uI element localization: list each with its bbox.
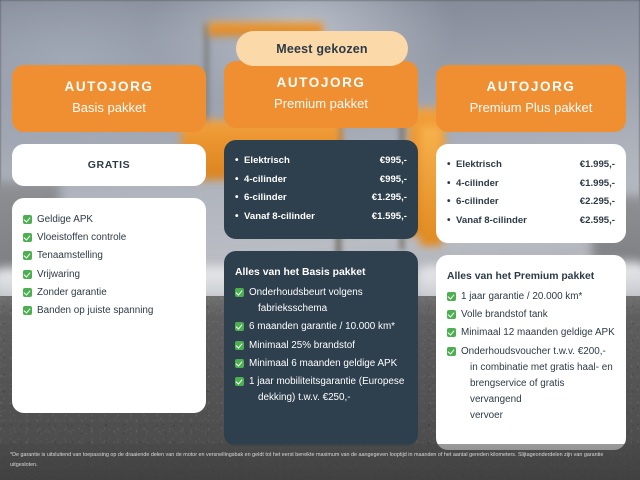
price-value: €1.595,- — [372, 208, 407, 227]
price-value: €2.595,- — [580, 212, 615, 231]
feature-label-cont: dekking) t.w.v. €250,- — [249, 390, 407, 406]
list-item: Minimaal 12 maanden geldige APK — [447, 325, 615, 341]
column-header-premium-plus: AUTOJORG Premium Plus pakket — [436, 65, 626, 132]
feature-label: Vrijwaring — [37, 269, 80, 280]
list-item: Banden op juiste spanning — [23, 303, 195, 319]
bullet-dot-icon: • — [447, 175, 456, 194]
column-header-premium: AUTOJORG Premium pakket — [224, 61, 418, 128]
check-icon — [23, 233, 32, 242]
features-list-premium-plus: 1 jaar garantie / 20.000 km* Volle brand… — [447, 289, 615, 425]
feature-label: Zonder garantie — [37, 287, 107, 298]
features-title: Alles van het Basis pakket — [235, 265, 407, 280]
price-row: • Vanaf 8-cilinder €1.595,- — [235, 208, 407, 227]
check-icon — [23, 306, 32, 315]
pricing-column-basis: AUTOJORG Basis pakket GRATIS Geldige APK… — [12, 0, 206, 413]
check-icon — [23, 215, 32, 224]
feature-label: Onderhoudsvoucher t.w.v. €200,- — [461, 346, 606, 357]
price-row: • 4-cilinder €1.995,- — [447, 175, 615, 194]
price-value: €1.995,- — [580, 156, 615, 175]
price-name: 4-cilinder — [456, 175, 580, 194]
brand-name: AUTOJORG — [20, 78, 198, 95]
bullet-dot-icon: • — [447, 212, 456, 231]
package-name: Premium Plus pakket — [444, 97, 618, 118]
brand-name: AUTOJORG — [444, 78, 618, 95]
check-icon — [23, 270, 32, 279]
feature-label: 6 maanden garantie / 10.000 km* — [249, 321, 395, 332]
list-item: Minimaal 25% brandstof — [235, 338, 407, 354]
most-chosen-badge-label: Meest gekozen — [276, 42, 368, 56]
price-list-premium: • Elektrisch €995,- • 4-cilinder €995,- … — [224, 140, 418, 239]
feature-label: Geldige APK — [37, 214, 93, 225]
check-icon — [23, 288, 32, 297]
price-banner-basis: GRATIS — [12, 144, 206, 186]
price-row: • Elektrisch €1.995,- — [447, 156, 615, 175]
list-item: 1 jaar garantie / 20.000 km* — [447, 289, 615, 305]
price-value: €995,- — [380, 152, 407, 171]
bullet-dot-icon: • — [235, 208, 244, 227]
check-icon — [447, 328, 456, 337]
price-row: • Vanaf 8-cilinder €2.595,- — [447, 212, 615, 231]
footer-disclaimer: *De garantie is uitsluitend van toepassi… — [0, 444, 640, 480]
feature-label: Tenaamstelling — [37, 250, 103, 261]
bullet-dot-icon: • — [447, 156, 456, 175]
feature-label-cont: fabrieksschema — [249, 301, 407, 317]
check-icon — [447, 310, 456, 319]
feature-label: Banden op juiste spanning — [37, 305, 153, 316]
check-icon — [235, 377, 244, 386]
price-banner-label: GRATIS — [88, 159, 131, 171]
bullet-dot-icon: • — [447, 193, 456, 212]
feature-label: 1 jaar garantie / 20.000 km* — [461, 291, 582, 302]
price-name: Elektrisch — [244, 152, 380, 171]
check-icon — [447, 292, 456, 301]
price-list-premium-plus: • Elektrisch €1.995,- • 4-cilinder €1.99… — [436, 144, 626, 243]
check-icon — [235, 359, 244, 368]
list-item: Volle brandstof tank — [447, 307, 615, 323]
feature-label: Minimaal 12 maanden geldige APK — [461, 327, 615, 338]
feature-label: Vloeistoffen controle — [37, 232, 126, 243]
feature-label-cont: brengservice of gratis vervangend — [461, 376, 615, 408]
most-chosen-badge: Meest gekozen — [236, 31, 408, 66]
price-name: Vanaf 8-cilinder — [456, 212, 580, 231]
feature-label-cont: vervoer — [461, 408, 615, 424]
check-icon — [235, 322, 244, 331]
features-panel-premium-plus: Alles van het Premium pakket 1 jaar gara… — [436, 255, 626, 450]
pricing-column-premium-plus: AUTOJORG Premium Plus pakket • Elektrisc… — [436, 0, 626, 450]
check-icon — [235, 288, 244, 297]
bullet-dot-icon: • — [235, 152, 244, 171]
brand-name: AUTOJORG — [232, 74, 410, 91]
list-item: Geldige APK — [23, 212, 195, 228]
pricing-table: Meest gekozen AUTOJORG Basis pakket GRAT… — [0, 0, 640, 480]
list-item: 6 maanden garantie / 10.000 km* — [235, 319, 407, 335]
features-panel-basis: Geldige APK Vloeistoffen controle Tenaam… — [12, 198, 206, 413]
features-list-basis: Geldige APK Vloeistoffen controle Tenaam… — [23, 212, 195, 319]
price-name: 4-cilinder — [244, 171, 380, 190]
price-value: €2.295,- — [580, 193, 615, 212]
price-row: • 4-cilinder €995,- — [235, 171, 407, 190]
price-name: 6-cilinder — [244, 189, 372, 208]
column-header-basis: AUTOJORG Basis pakket — [12, 65, 206, 132]
price-name: 6-cilinder — [456, 193, 580, 212]
price-name: Elektrisch — [456, 156, 580, 175]
list-item: Zonder garantie — [23, 285, 195, 301]
features-title: Alles van het Premium pakket — [447, 269, 615, 284]
price-value: €1.995,- — [580, 175, 615, 194]
list-item: Onderhoudsvoucher t.w.v. €200,- in combi… — [447, 344, 615, 425]
features-list-premium: Onderhoudsbeurt volgens fabrieksschema 6… — [235, 285, 407, 406]
price-value: €1.295,- — [372, 189, 407, 208]
list-item: Tenaamstelling — [23, 248, 195, 264]
bullet-dot-icon: • — [235, 171, 244, 190]
check-icon — [23, 251, 32, 260]
package-name: Basis pakket — [20, 97, 198, 118]
feature-label: 1 jaar mobiliteitsgarantie (Europese — [249, 376, 404, 387]
list-item: Onderhoudsbeurt volgens fabrieksschema — [235, 285, 407, 317]
feature-label: Onderhoudsbeurt volgens — [249, 287, 363, 298]
feature-label: Volle brandstof tank — [461, 309, 548, 320]
bullet-dot-icon: • — [235, 189, 244, 208]
check-icon — [447, 347, 456, 356]
list-item: Vloeistoffen controle — [23, 230, 195, 246]
list-item: 1 jaar mobiliteitsgarantie (Europese dek… — [235, 374, 407, 406]
list-item: Minimaal 6 maanden geldige APK — [235, 356, 407, 372]
feature-label: Minimaal 25% brandstof — [249, 340, 355, 351]
check-icon — [235, 341, 244, 350]
feature-label-cont: in combinatie met gratis haal- en — [461, 360, 615, 376]
price-value: €995,- — [380, 171, 407, 190]
price-row: • 6-cilinder €2.295,- — [447, 193, 615, 212]
price-name: Vanaf 8-cilinder — [244, 208, 372, 227]
list-item: Vrijwaring — [23, 267, 195, 283]
feature-label: Minimaal 6 maanden geldige APK — [249, 358, 397, 369]
package-name: Premium pakket — [232, 93, 410, 114]
price-row: • 6-cilinder €1.295,- — [235, 189, 407, 208]
features-panel-premium: Alles van het Basis pakket Onderhoudsbeu… — [224, 251, 418, 446]
footer-disclaimer-text: *De garantie is uitsluitend van toepassi… — [10, 452, 603, 468]
price-row: • Elektrisch €995,- — [235, 152, 407, 171]
pricing-column-premium: AUTOJORG Premium pakket • Elektrisch €99… — [224, 0, 418, 446]
